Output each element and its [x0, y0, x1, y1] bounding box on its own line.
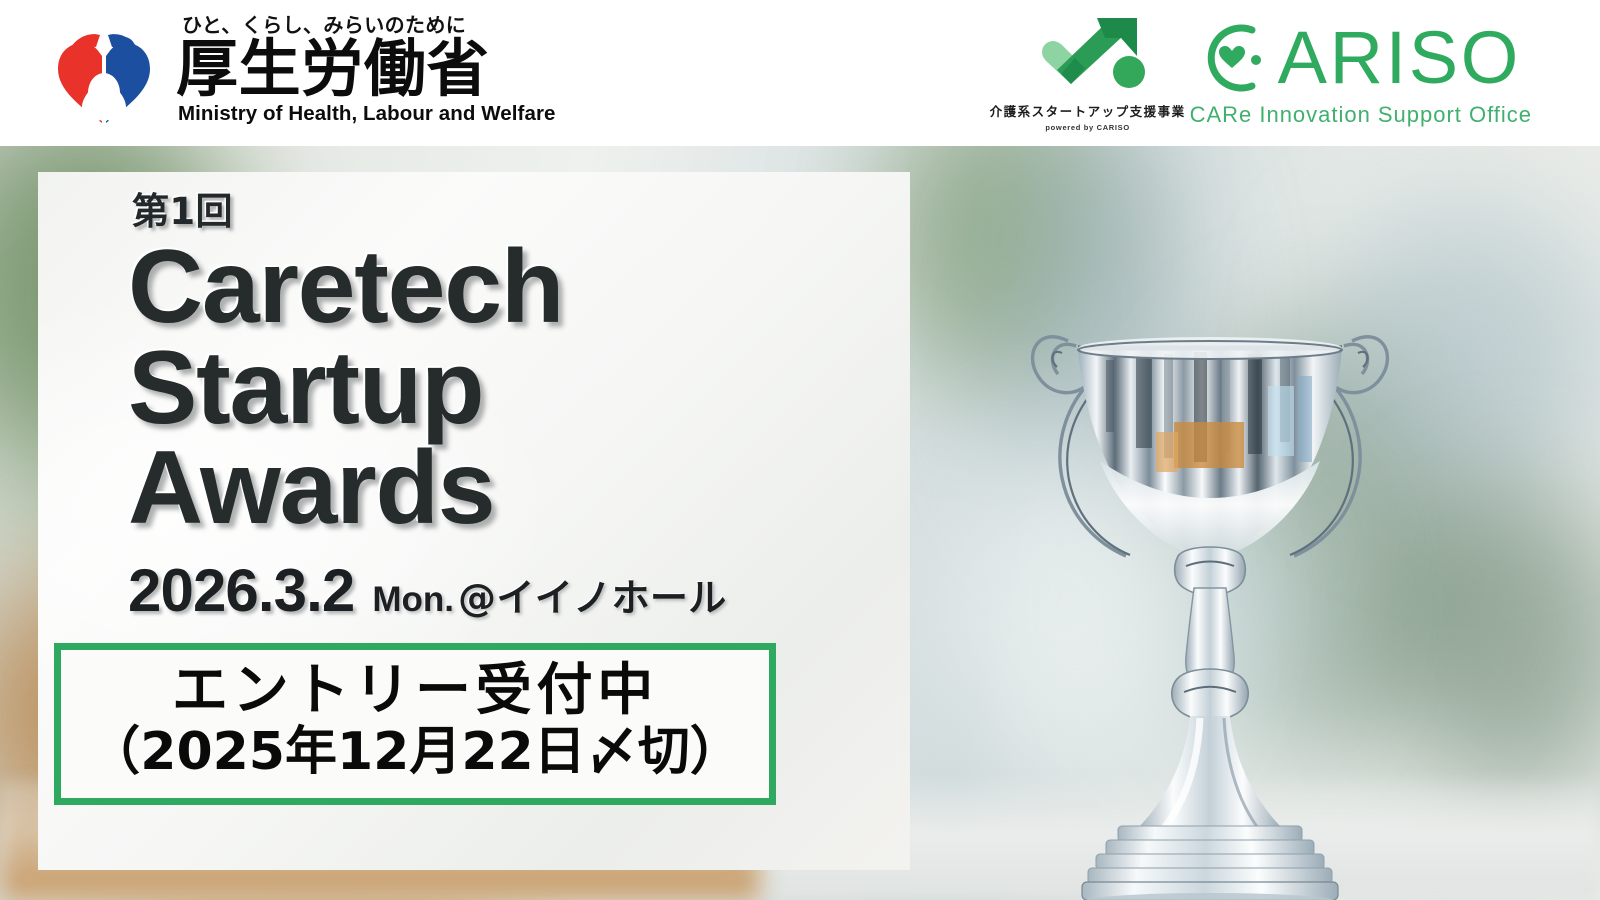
cariso-logo: 介護系スタートアップ支援事業 powered by CARISO ARISO C… [1004, 16, 1532, 132]
info-panel: 第1回 Caretech Startup Awards 2026.3.2 Mon… [38, 172, 910, 870]
panel-content: 第1回 Caretech Startup Awards 2026.3.2 Mon… [38, 172, 910, 805]
cariso-wordmark-block: ARISO CARe Innovation Support Office [1190, 16, 1532, 128]
two-figures-heart-icon [48, 19, 160, 131]
green-check-arrow-icon [1027, 16, 1149, 98]
entry-deadline-label: （2025年12月22日〆切） [61, 722, 769, 783]
title-line-1: Caretech [128, 237, 910, 338]
mhlw-name-en: Ministry of Health, Labour and Welfare [178, 104, 555, 125]
cariso-letters: ARISO [1278, 24, 1521, 92]
page-title: Caretech Startup Awards [128, 237, 910, 540]
event-venue: @イイノホール [458, 579, 727, 617]
mhlw-text-block: ひと、くらし、みらいのために 厚生労働省 Ministry of Health,… [176, 14, 555, 131]
cariso-mark-block: 介護系スタートアップ支援事業 powered by CARISO [1004, 16, 1172, 132]
cariso-tagline: CARe Innovation Support Office [1190, 102, 1532, 128]
edition-label: 第1回 [132, 192, 910, 233]
event-weekday: Mon. [372, 582, 454, 617]
c-heart-icon [1190, 16, 1274, 100]
entry-status-box[interactable]: エントリー受付中 （2025年12月22日〆切） [54, 643, 776, 804]
event-date-line: 2026.3.2 Mon. @イイノホール [128, 561, 910, 621]
header-bar: ひと、くらし、みらいのために 厚生労働省 Ministry of Health,… [0, 0, 1600, 146]
cariso-wordmark: ARISO [1190, 16, 1521, 100]
title-line-3: Awards [128, 438, 910, 539]
title-line-2: Startup [128, 338, 910, 439]
cariso-program-label: 介護系スタートアップ支援事業 [990, 101, 1186, 120]
entry-status-label: エントリー受付中 [61, 658, 769, 724]
cariso-powered-by: powered by CARISO [1045, 123, 1129, 132]
hero-photo: 第1回 Caretech Startup Awards 2026.3.2 Mon… [0, 146, 1600, 900]
silver-trophy-cup-icon [950, 226, 1470, 900]
event-date: 2026.3.2 [128, 561, 354, 621]
mhlw-name-jp: 厚生労働省 [176, 38, 555, 100]
mhlw-logo: ひと、くらし、みらいのために 厚生労働省 Ministry of Health,… [48, 14, 555, 131]
poster-page: ひと、くらし、みらいのために 厚生労働省 Ministry of Health,… [0, 0, 1600, 900]
